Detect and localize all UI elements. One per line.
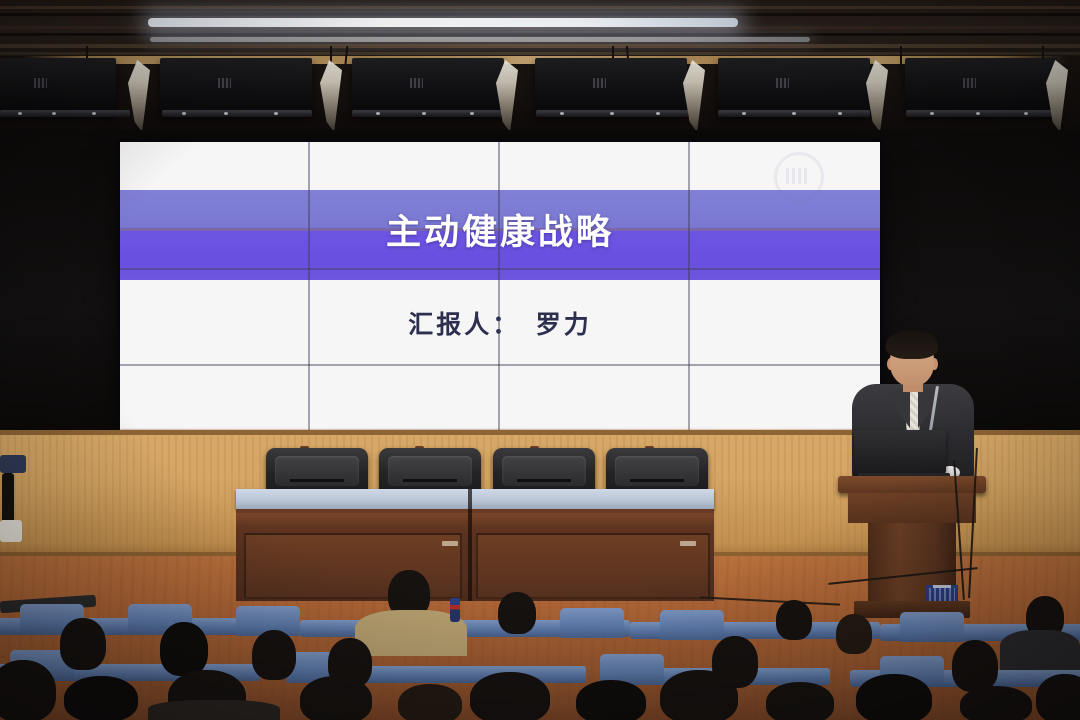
lectern-column	[868, 523, 956, 601]
panel-seam	[120, 364, 880, 366]
audience-seat[interactable]	[900, 612, 964, 642]
stage-light-housing	[0, 58, 116, 114]
slide-subtitle: 汇报人： 罗力	[120, 305, 880, 341]
panel-seam	[308, 142, 310, 432]
audience-head	[470, 672, 550, 720]
panel-seam	[498, 142, 500, 432]
university-seal-watermark	[774, 152, 824, 202]
audience-head	[1036, 674, 1080, 720]
ceiling-tube-light	[148, 18, 738, 27]
head-table	[236, 489, 714, 601]
audience-shoulders	[1000, 630, 1080, 670]
ceiling-truss	[0, 44, 1080, 48]
audience-head	[776, 600, 812, 640]
audience-head	[300, 676, 372, 720]
stage-light-housing	[718, 58, 870, 114]
light-rail	[352, 110, 502, 117]
slide-content: 主动健康战略 汇报人： 罗力	[120, 142, 880, 432]
audience-head	[64, 676, 138, 720]
audience-head	[960, 686, 1032, 720]
light-rail	[718, 110, 870, 117]
audience-head	[0, 660, 56, 720]
side-equipment-box	[0, 520, 22, 542]
stage-light-housing	[352, 58, 504, 114]
audience-head	[660, 670, 738, 720]
audience-head	[766, 682, 834, 720]
lectern-top	[838, 476, 986, 493]
stage-light-housing	[535, 58, 687, 114]
light-rail	[0, 110, 130, 117]
presentation-video-wall[interactable]: 主动健康战略 汇报人： 罗力	[120, 142, 880, 432]
table-top-surface	[236, 489, 714, 509]
stage-spotlight	[128, 60, 150, 132]
ceiling-truss-secondary	[0, 52, 1080, 55]
light-rail	[906, 110, 1056, 117]
audience-head	[60, 618, 106, 670]
panel-seam	[120, 268, 880, 270]
water-bottle[interactable]	[450, 598, 460, 622]
audience-head	[952, 640, 998, 692]
audience-head	[836, 614, 872, 654]
stage-light-housing	[905, 58, 1057, 114]
conference-hall-photo: 主动健康战略 汇报人： 罗力	[0, 0, 1080, 720]
audience-seat[interactable]	[560, 608, 624, 638]
stage-spotlight	[320, 60, 342, 132]
audience-head	[576, 680, 646, 720]
panel-seam	[688, 142, 690, 432]
audience-head	[498, 592, 536, 634]
audience-head	[252, 630, 296, 680]
light-rail	[162, 110, 312, 117]
ceiling-tube-light-secondary	[150, 37, 810, 42]
audience-shoulders	[148, 700, 280, 720]
speaker-hair	[886, 330, 938, 359]
presenter-laptop[interactable]	[854, 430, 946, 474]
ceiling	[0, 0, 1080, 142]
slide-title: 主动健康战略	[120, 204, 880, 255]
audience-head	[856, 674, 932, 720]
audience-head	[398, 684, 462, 720]
light-rail	[536, 110, 688, 117]
side-equipment-stand	[2, 473, 14, 525]
audience-seat[interactable]	[660, 610, 724, 640]
audience-head	[160, 622, 208, 676]
side-equipment	[0, 455, 26, 473]
stage-light-housing	[160, 58, 312, 114]
